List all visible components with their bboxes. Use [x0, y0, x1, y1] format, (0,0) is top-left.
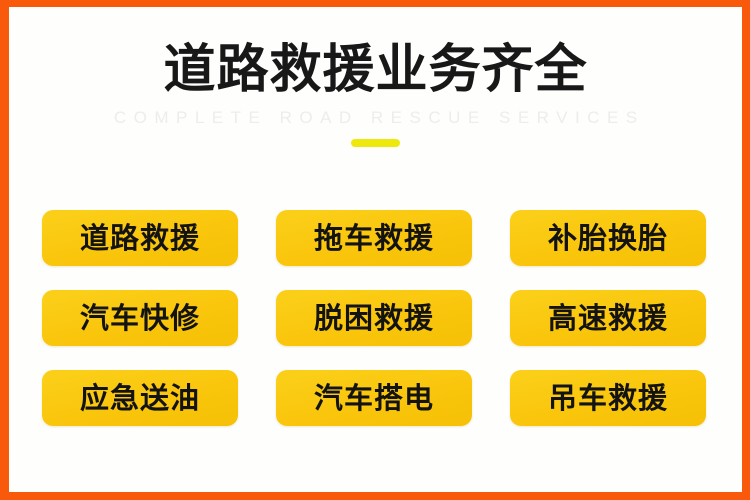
service-tag-label: 应急送油	[80, 384, 200, 413]
service-tag[interactable]: 吊车救援	[510, 370, 706, 426]
service-tag-grid: 道路救援 拖车救援 补胎换胎 汽车快修 脱困救援 高速救援 应急送油 汽车搭电	[42, 210, 706, 426]
poster-canvas: 道路救援业务齐全 COMPLETE ROAD RESCUE SERVICES 道…	[9, 7, 742, 492]
poster-header: 道路救援业务齐全 COMPLETE ROAD RESCUE SERVICES	[9, 7, 742, 147]
service-tag-label: 高速救援	[548, 304, 668, 333]
service-tag-label: 道路救援	[80, 224, 200, 253]
service-tag-label: 补胎换胎	[548, 224, 668, 253]
service-tag-label: 脱困救援	[314, 304, 434, 333]
service-tag[interactable]: 高速救援	[510, 290, 706, 346]
service-tag[interactable]: 拖车救援	[276, 210, 472, 266]
service-tag-label: 拖车救援	[314, 224, 434, 253]
service-tag[interactable]: 道路救援	[42, 210, 238, 266]
service-tag-label: 汽车搭电	[314, 384, 434, 413]
service-tag[interactable]: 汽车搭电	[276, 370, 472, 426]
poster-orange-frame: 道路救援业务齐全 COMPLETE ROAD RESCUE SERVICES 道…	[0, 0, 750, 500]
service-tag[interactable]: 补胎换胎	[510, 210, 706, 266]
page-subtitle: COMPLETE ROAD RESCUE SERVICES	[9, 98, 742, 126]
service-tag[interactable]: 应急送油	[42, 370, 238, 426]
divider-bar	[351, 139, 400, 147]
service-tag[interactable]: 脱困救援	[276, 290, 472, 346]
service-tag[interactable]: 汽车快修	[42, 290, 238, 346]
divider-wrap	[9, 126, 742, 147]
service-tag-label: 汽车快修	[80, 304, 200, 333]
service-tag-label: 吊车救援	[548, 384, 668, 413]
page-title: 道路救援业务齐全	[9, 7, 742, 98]
